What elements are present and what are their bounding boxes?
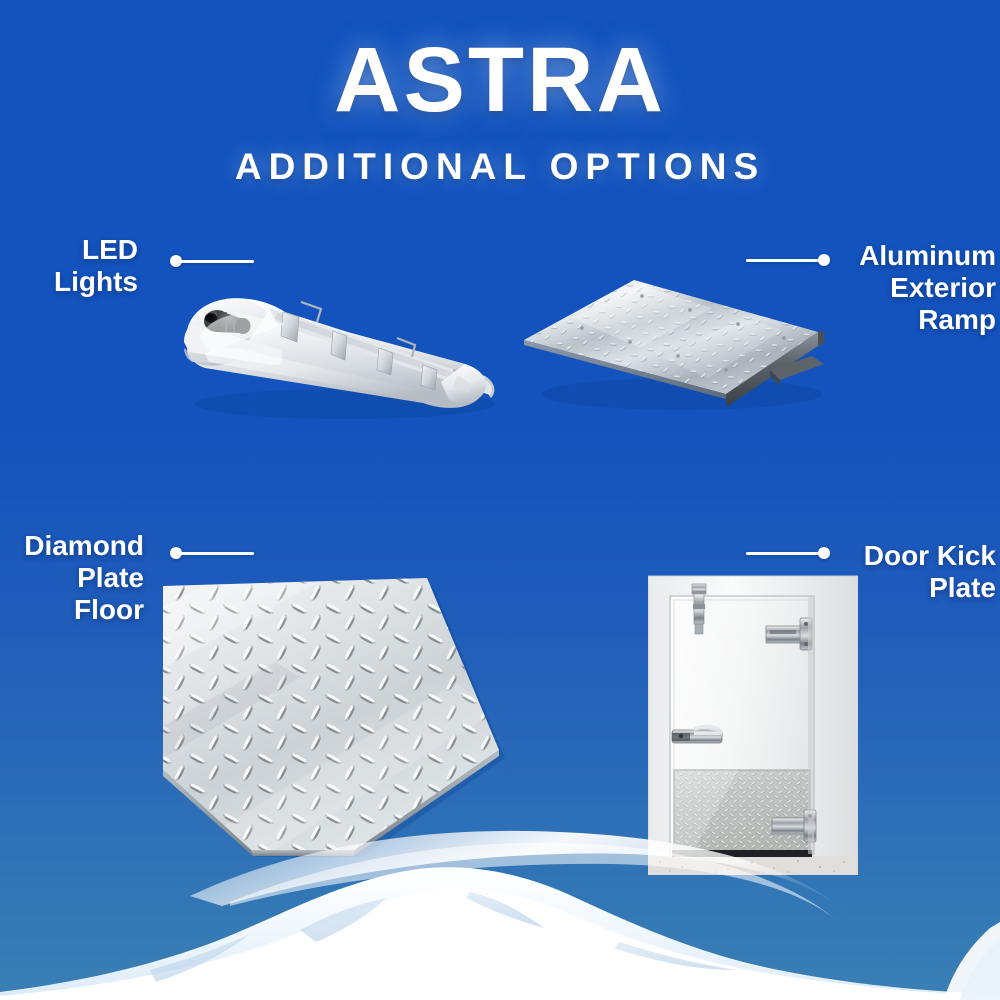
connector-line-aluminum-exterior-ramp (746, 254, 830, 266)
callout-label-led-lights: LED Lights (8, 234, 138, 298)
product-image-aluminum-diamond-plate-ramp (512, 266, 842, 421)
connector-line-led-lights (170, 255, 254, 267)
connector-bar (746, 552, 822, 555)
connector-dot-icon (818, 254, 830, 266)
product-image-led-vapor-tight-fixture (165, 272, 515, 437)
connector-bar (746, 259, 822, 262)
connector-line-diamond-plate-floor (170, 547, 254, 559)
callout-label-door-kick-plate: Door Kick Plate (838, 540, 996, 604)
page-title: ASTRA (0, 34, 1000, 126)
callout-label-aluminum-exterior-ramp: Aluminum Exterior Ramp (838, 240, 996, 336)
connector-bar (178, 260, 254, 263)
footer-ice-scene (0, 810, 1000, 1000)
connector-bar (178, 552, 254, 555)
connector-dot-icon (818, 547, 830, 559)
page-subtitle: ADDITIONAL OPTIONS (0, 148, 1000, 185)
connector-line-door-kick-plate (746, 547, 830, 559)
callout-label-diamond-plate-floor: Diamond Plate Floor (0, 530, 144, 626)
astra-additional-options-poster: ASTRA ADDITIONAL OPTIONS LED Lights (0, 0, 1000, 1000)
poster-header: ASTRA ADDITIONAL OPTIONS (0, 0, 1000, 185)
